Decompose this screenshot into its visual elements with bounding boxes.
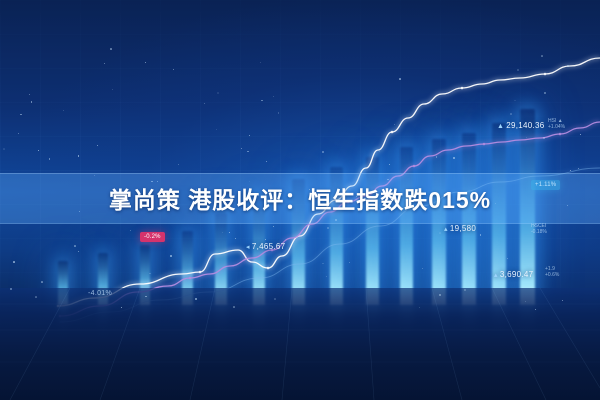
particle	[13, 261, 15, 263]
particle	[562, 300, 563, 301]
particle	[3, 148, 5, 150]
sublabel-line-2: -0.18%	[531, 229, 547, 235]
tick-marker: ◂	[246, 244, 250, 251]
particle	[74, 245, 76, 247]
particle	[112, 89, 113, 90]
particle	[436, 156, 438, 158]
drop-value: ◂7,465.67	[246, 242, 285, 251]
particle	[464, 289, 465, 290]
particle	[63, 110, 64, 111]
tick-marker: ▴	[444, 226, 448, 233]
particle	[578, 168, 579, 169]
particle	[195, 298, 197, 300]
chart-point	[413, 165, 416, 168]
label-value: 19,580	[450, 224, 476, 233]
particle	[265, 239, 266, 240]
chart-point	[267, 267, 270, 270]
particle	[18, 133, 19, 134]
chart-point	[544, 73, 547, 76]
particle	[222, 232, 223, 233]
chart-point	[559, 133, 562, 136]
hang-seng-value: ▲29,140.36	[497, 121, 545, 130]
particle	[326, 276, 327, 277]
particle	[535, 309, 536, 310]
particle	[217, 92, 219, 94]
particle	[145, 296, 146, 297]
particle	[439, 294, 440, 295]
particle	[38, 150, 39, 151]
particle	[178, 164, 179, 165]
badge-decline: -0.2%	[140, 232, 165, 242]
label-value: 3,690.47	[500, 270, 534, 279]
particle	[170, 255, 172, 257]
sub-mid-right: HSCEI-0.18%	[531, 223, 547, 235]
particle	[273, 96, 274, 97]
sub-top-right: HSI ▲+1.04%	[548, 118, 565, 130]
particle	[580, 134, 581, 135]
page-title: 掌尚策 港股收评：恒生指数跌015%	[0, 173, 600, 222]
particle	[31, 101, 32, 102]
particle	[507, 258, 508, 259]
index-value-low: ▴3,690.47	[494, 270, 533, 279]
particle	[322, 263, 323, 264]
particle	[35, 296, 37, 298]
particle	[110, 48, 112, 50]
chart-point	[199, 271, 202, 274]
label-value: 7,465.67	[252, 242, 286, 251]
particle	[261, 100, 262, 101]
floor-perspective-lines	[0, 288, 600, 400]
particle	[97, 145, 98, 146]
particle	[104, 63, 105, 64]
chart-point	[483, 143, 486, 146]
market-banner-image: ▲29,140.36▴19,580▴3,690.47◂7,465.67HSI ▲…	[0, 0, 600, 400]
particle	[229, 232, 230, 233]
particle	[233, 306, 235, 308]
particle	[389, 164, 390, 165]
axis-low-label: -4.01%	[88, 290, 112, 297]
particle	[422, 268, 423, 269]
chart-point	[391, 131, 394, 134]
tick-marker: ▴	[494, 272, 498, 279]
particle	[439, 232, 441, 234]
index-value-mid: ▴19,580	[444, 224, 476, 233]
chart-point	[461, 87, 464, 90]
particle	[121, 307, 122, 308]
particle	[278, 112, 279, 113]
particle	[241, 148, 242, 149]
particle	[419, 307, 420, 308]
particle	[570, 170, 571, 171]
label-value: 29,140.36	[506, 121, 544, 130]
chart-point	[189, 277, 192, 280]
sublabel-line-2: +0.6%	[545, 272, 559, 278]
particle	[10, 288, 12, 290]
particle	[173, 69, 174, 70]
particle	[322, 151, 324, 153]
sub-bottom-right: +1.9+0.6%	[545, 266, 559, 278]
particle	[394, 124, 395, 125]
particle	[543, 137, 545, 139]
tick-marker: ▲	[497, 123, 504, 130]
sublabel-line-2: +1.04%	[548, 124, 565, 130]
particle	[20, 114, 21, 115]
particle	[453, 157, 455, 159]
